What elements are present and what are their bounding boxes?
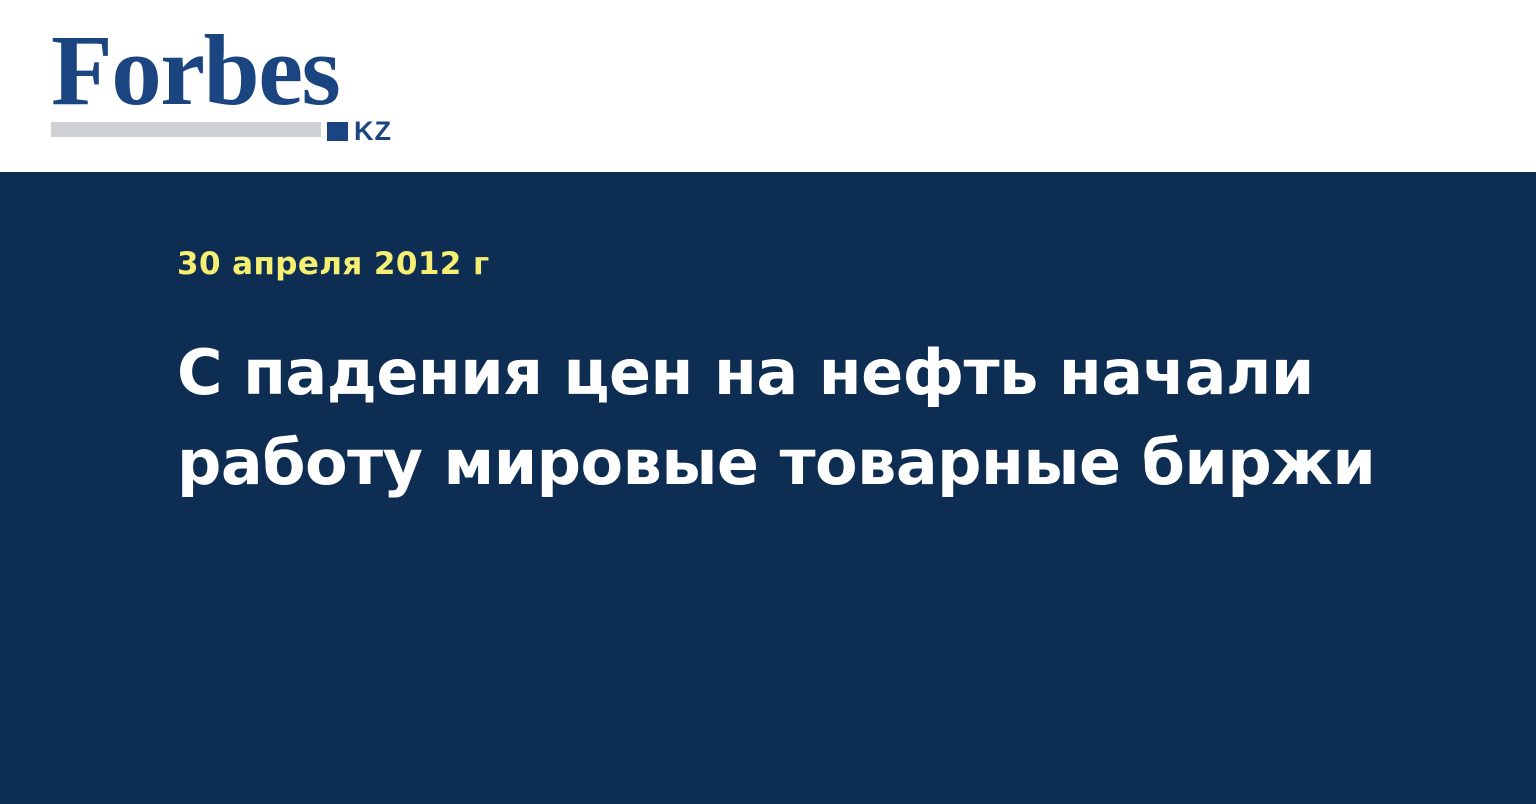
article-hero-page: Forbes kz 30 апреля 2012 г С падения цен… bbox=[0, 0, 1536, 804]
hero-section: 30 апреля 2012 г С падения цен на нефть … bbox=[0, 172, 1536, 804]
blue-square-icon bbox=[327, 122, 348, 141]
article-title: С падения цен на нефть начали работу мир… bbox=[177, 328, 1387, 508]
site-header: Forbes kz bbox=[0, 0, 1536, 172]
logo-tld-label: kz bbox=[354, 118, 392, 145]
article-date: 30 апреля 2012 г bbox=[177, 246, 1427, 282]
forbes-wordmark: Forbes bbox=[51, 18, 339, 122]
forbes-kz-logo[interactable]: Forbes kz bbox=[51, 18, 411, 146]
hero-content: 30 апреля 2012 г С падения цен на нефть … bbox=[177, 246, 1427, 508]
grey-rule-icon bbox=[51, 122, 321, 137]
